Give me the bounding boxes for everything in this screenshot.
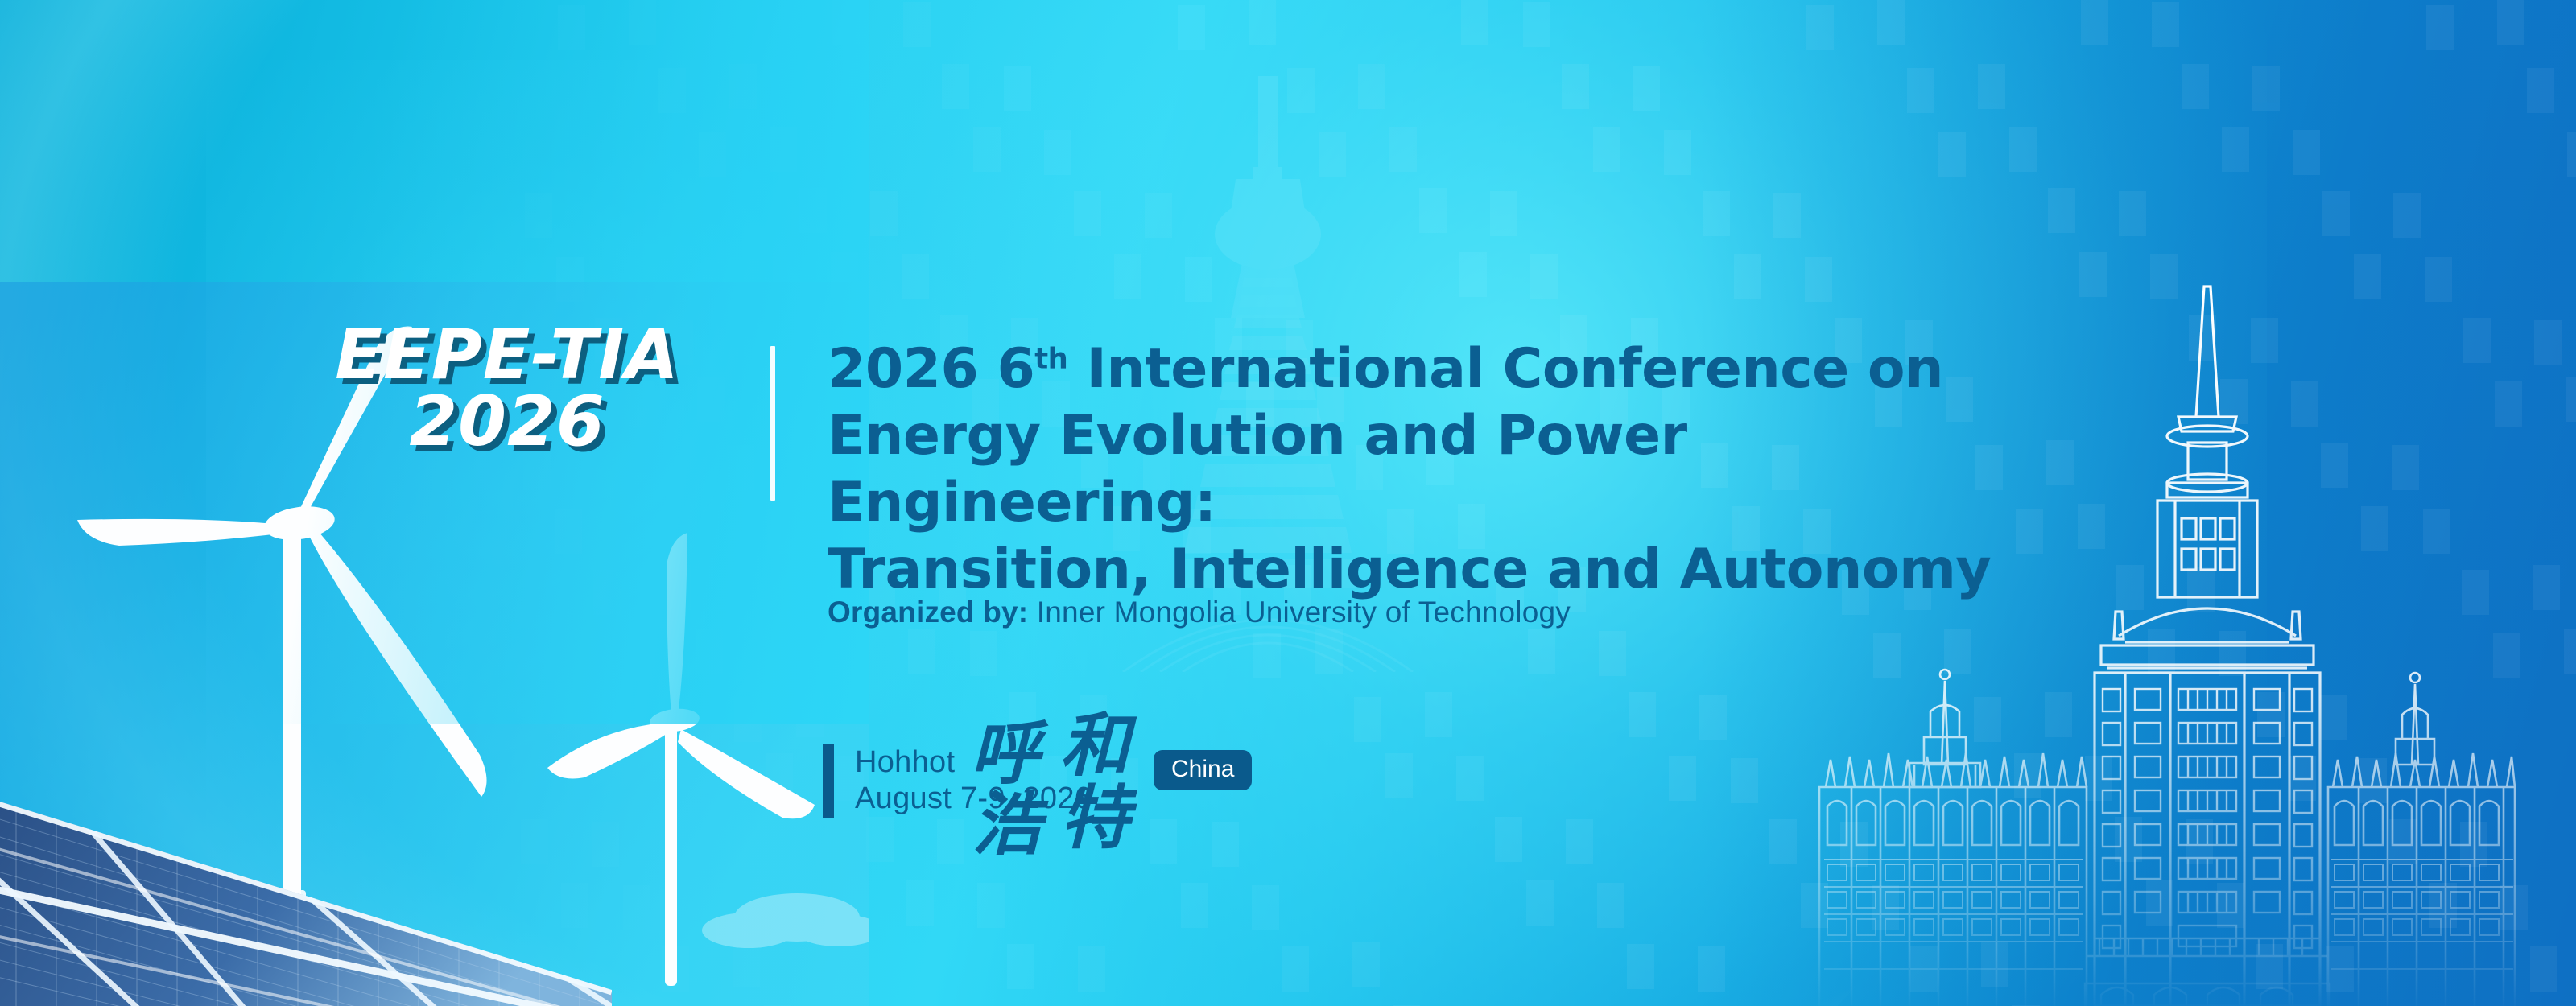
cjk-char-4: 特 <box>1060 784 1129 853</box>
logo-title-divider <box>770 346 775 501</box>
page-title: 2026 6th International Conference on Ene… <box>828 336 2083 604</box>
cjk-char-3: 浩 <box>972 790 1041 860</box>
cjk-char-1: 呼 <box>970 719 1039 789</box>
organizer-label: Organized by: <box>828 596 1028 629</box>
location-accent-bar <box>823 744 834 818</box>
country-badge: China <box>1154 750 1252 790</box>
title-space <box>978 337 997 401</box>
title-ordinal-suffix: th <box>1034 342 1067 375</box>
event-logo: EEPE-TIA 2026 <box>290 322 724 456</box>
organizer-name: Inner Mongolia University of Technology <box>1037 596 1571 629</box>
cjk-char-2: 和 <box>1060 711 1129 781</box>
location-city-cjk: 呼 和 浩 特 <box>970 716 1163 869</box>
title-ordinal-number: 6 <box>997 337 1034 401</box>
title-line2: Energy Evolution and Power Engineering: <box>828 404 1687 534</box>
logo-line-year: 2026 <box>290 389 724 456</box>
title-year: 2026 <box>828 337 978 401</box>
title-line1-rest: International Conference on <box>1067 337 1943 401</box>
organizer-line: Organized by: Inner Mongolia University … <box>828 596 1571 629</box>
title-line3: Transition, Intelligence and Autonomy <box>828 538 1991 601</box>
conference-banner: EEPE-TIA 2026 2026 6th International Con… <box>0 0 2576 1006</box>
logo-line-acronym: EEPE-TIA <box>290 322 724 389</box>
banner-content: EEPE-TIA 2026 2026 6th International Con… <box>0 0 2576 1006</box>
